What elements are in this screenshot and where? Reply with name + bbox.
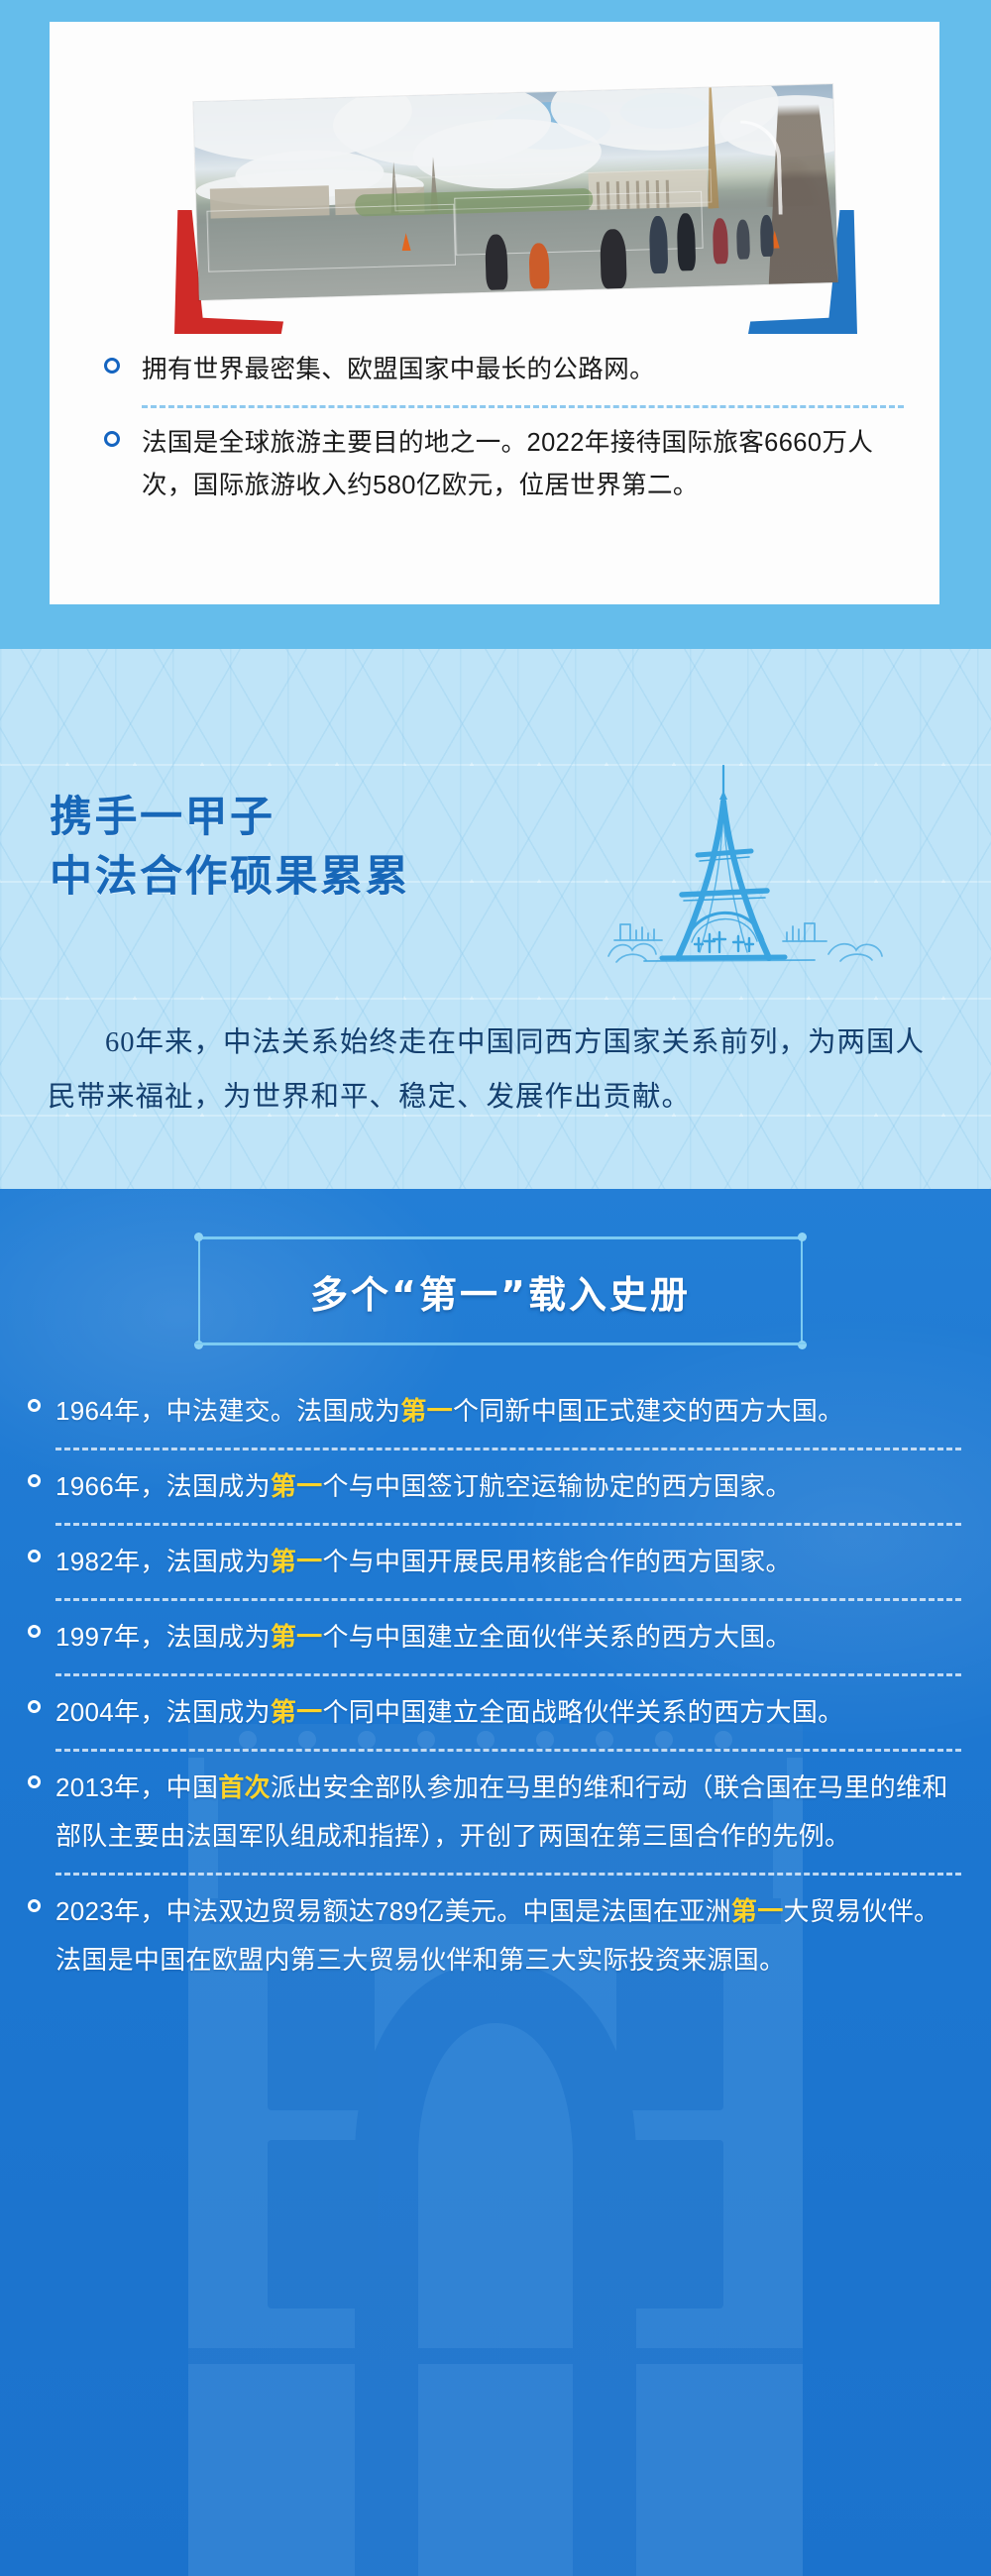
bullet-text: 法国是全球旅游主要目的地之一。2022年接待国际旅客6660万人次，国际旅游收入…	[142, 422, 904, 507]
list-item: 法国是全球旅游主要目的地之一。2022年接待国际旅客6660万人次，国际旅游收入…	[104, 422, 904, 507]
list-item-text: 2013年，中国首次派出安全部队参加在马里的维和行动（联合国在马里的维和部队主要…	[55, 1764, 961, 1861]
highlight: 第一	[271, 1697, 323, 1727]
photo-section: 拥有世界最密集、欧盟国家中最长的公路网。 法国是全球旅游主要目的地之一。2022…	[0, 0, 991, 649]
dashed-divider	[55, 1523, 961, 1526]
dashed-divider	[55, 1598, 961, 1601]
list-item: 2023年，中法双边贸易额达789亿美元。中国是法国在亚洲第一大贸易伙伴。法国是…	[28, 1887, 961, 1985]
banner: 多个“第一”载入史册	[198, 1236, 803, 1345]
section-spacer	[0, 604, 991, 649]
list-item: 1997年，法国成为第一个与中国建立全面伙伴关系的西方大国。	[28, 1613, 961, 1662]
bullet-ring-icon	[28, 1625, 41, 1638]
firsts-list-section: 多个“第一”载入史册 1964年，中法建交。法国成为第一个同新中国正式建交的西方…	[0, 1189, 991, 2576]
bullet-text: 拥有世界最密集、欧盟国家中最长的公路网。	[142, 349, 655, 391]
photo-bullet-list: 拥有世界最密集、欧盟国家中最长的公路网。 法国是全球旅游主要目的地之一。2022…	[104, 349, 904, 507]
list-item-text: 1997年，法国成为第一个与中国建立全面伙伴关系的西方大国。	[55, 1613, 792, 1662]
bullet-ring-icon	[28, 1474, 41, 1487]
list-item-text: 1982年，法国成为第一个与中国开展民用核能合作的西方国家。	[55, 1538, 792, 1586]
place-de-la-concorde-photo	[196, 93, 835, 291]
page-title-line2: 中法合作硕果累累	[50, 847, 410, 907]
list-item: 拥有世界最密集、欧盟国家中最长的公路网。	[104, 349, 904, 391]
highlight: 第一	[400, 1396, 453, 1426]
list-item-text: 2004年，法国成为第一个同中国建立全面战略伙伴关系的西方大国。	[55, 1688, 843, 1737]
bullet-ring-icon	[28, 1399, 41, 1412]
page-title-line1: 携手一甲子	[50, 788, 410, 847]
dashed-divider	[142, 405, 904, 408]
hero-section: 携手一甲子 中法合作硕果累累	[0, 649, 991, 1189]
dashed-divider	[55, 1673, 961, 1676]
bullet-ring-icon	[104, 431, 120, 447]
highlight: 第一	[271, 1622, 323, 1652]
bullet-ring-icon	[28, 1700, 41, 1713]
list-item: 2004年，法国成为第一个同中国建立全面战略伙伴关系的西方大国。	[28, 1688, 961, 1737]
list-item: 2013年，中国首次派出安全部队参加在马里的维和行动（联合国在马里的维和部队主要…	[28, 1764, 961, 1861]
highlight: 第一	[271, 1471, 323, 1501]
highlight: 第一	[271, 1547, 323, 1576]
highlight: 第一	[731, 1896, 784, 1926]
dashed-divider	[55, 1749, 961, 1752]
page-title: 携手一甲子 中法合作硕果累累	[50, 788, 410, 907]
list-item-text: 2023年，中法双边贸易额达789亿美元。中国是法国在亚洲第一大贸易伙伴。法国是…	[55, 1887, 961, 1985]
bullet-ring-icon	[104, 358, 120, 374]
bullet-ring-icon	[28, 1550, 41, 1562]
bullet-ring-icon	[28, 1775, 41, 1788]
bullet-ring-icon	[28, 1899, 41, 1912]
dashed-divider	[55, 1873, 961, 1876]
list-item: 1964年，中法建交。法国成为第一个同新中国正式建交的西方大国。	[28, 1387, 961, 1436]
dashed-divider	[55, 1448, 961, 1450]
banner-title: 多个“第一”载入史册	[198, 1236, 803, 1345]
hero-paragraph: 60年来，中法关系始终走在中国同西方国家关系前列，为两国人民带来福祉，为世界和平…	[48, 1016, 951, 1125]
firsts-list: 1964年，中法建交。法国成为第一个同新中国正式建交的西方大国。 1966年，法…	[28, 1387, 961, 1985]
highlight: 首次	[218, 1772, 271, 1802]
list-item: 1982年，法国成为第一个与中国开展民用核能合作的西方国家。	[28, 1538, 961, 1586]
list-item-text: 1964年，中法建交。法国成为第一个同新中国正式建交的西方大国。	[55, 1387, 843, 1436]
list-item-text: 1966年，法国成为第一个与中国签订航空运输协定的西方国家。	[55, 1462, 792, 1511]
list-item: 1966年，法国成为第一个与中国签订航空运输协定的西方国家。	[28, 1462, 961, 1511]
photo-card: 拥有世界最密集、欧盟国家中最长的公路网。 法国是全球旅游主要目的地之一。2022…	[50, 22, 939, 604]
